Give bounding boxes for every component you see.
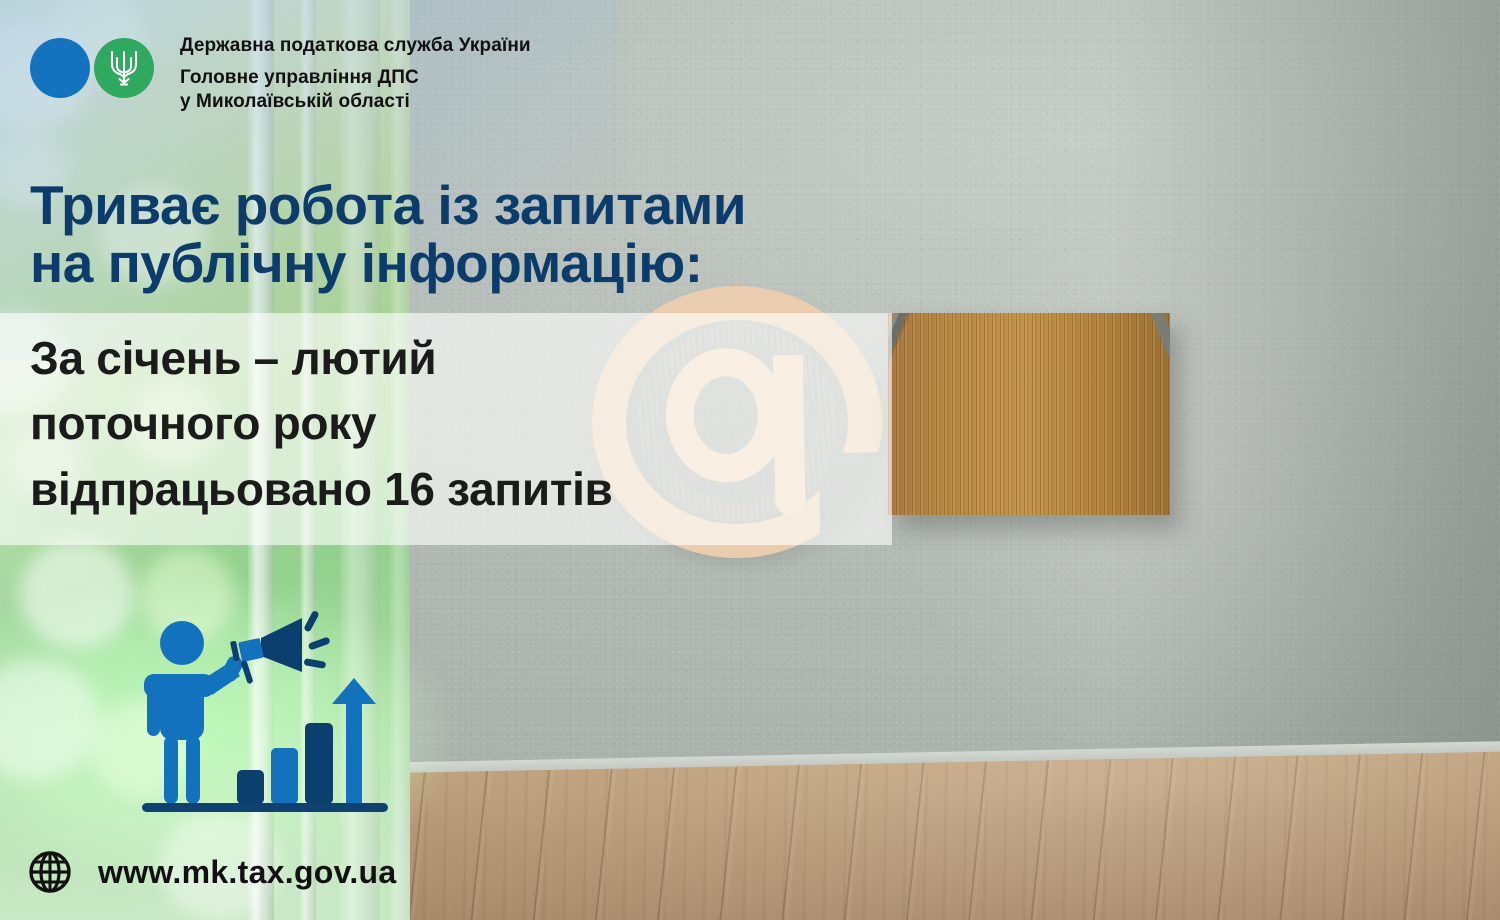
envelope-flap-right <box>1023 313 1170 515</box>
person-with-megaphone-icon <box>144 621 245 804</box>
footer-block: www.mk.tax.gov.ua <box>28 850 397 894</box>
organization-name: Державна податкова служба України Головн… <box>180 34 531 115</box>
logo-green-circle <box>94 38 154 98</box>
org-line-3: у Миколаївській області <box>180 90 531 115</box>
logo-marks <box>30 38 154 98</box>
wooden-envelope-icon <box>888 313 1170 515</box>
growth-infographic-svg <box>140 600 410 840</box>
table-row <box>271 748 298 804</box>
bar-chart <box>237 723 333 804</box>
envelope-flap-shading <box>888 313 1029 418</box>
table-row <box>237 770 264 804</box>
page-title: Триває робота із запитами на публічну ін… <box>30 176 746 293</box>
org-line-2: Головне управління ДПС <box>180 66 531 91</box>
website-url[interactable]: www.mk.tax.gov.ua <box>98 854 397 891</box>
logo-blue-circle <box>30 38 90 98</box>
table-row <box>305 723 333 804</box>
header-logo-block: Державна податкова служба України Головн… <box>30 34 531 115</box>
statistic-statement: За січень – лютий поточного року відпрац… <box>30 326 613 522</box>
org-line-1: Державна податкова служба України <box>180 34 531 59</box>
ukrainian-trident-icon <box>107 47 141 89</box>
up-arrow-icon <box>332 678 376 804</box>
growth-infographic <box>140 600 410 840</box>
poster-root: Державна податкова служба України Головн… <box>0 0 1500 920</box>
globe-icon <box>28 850 72 894</box>
chart-baseline <box>142 803 388 812</box>
megaphone-icon <box>230 610 331 684</box>
